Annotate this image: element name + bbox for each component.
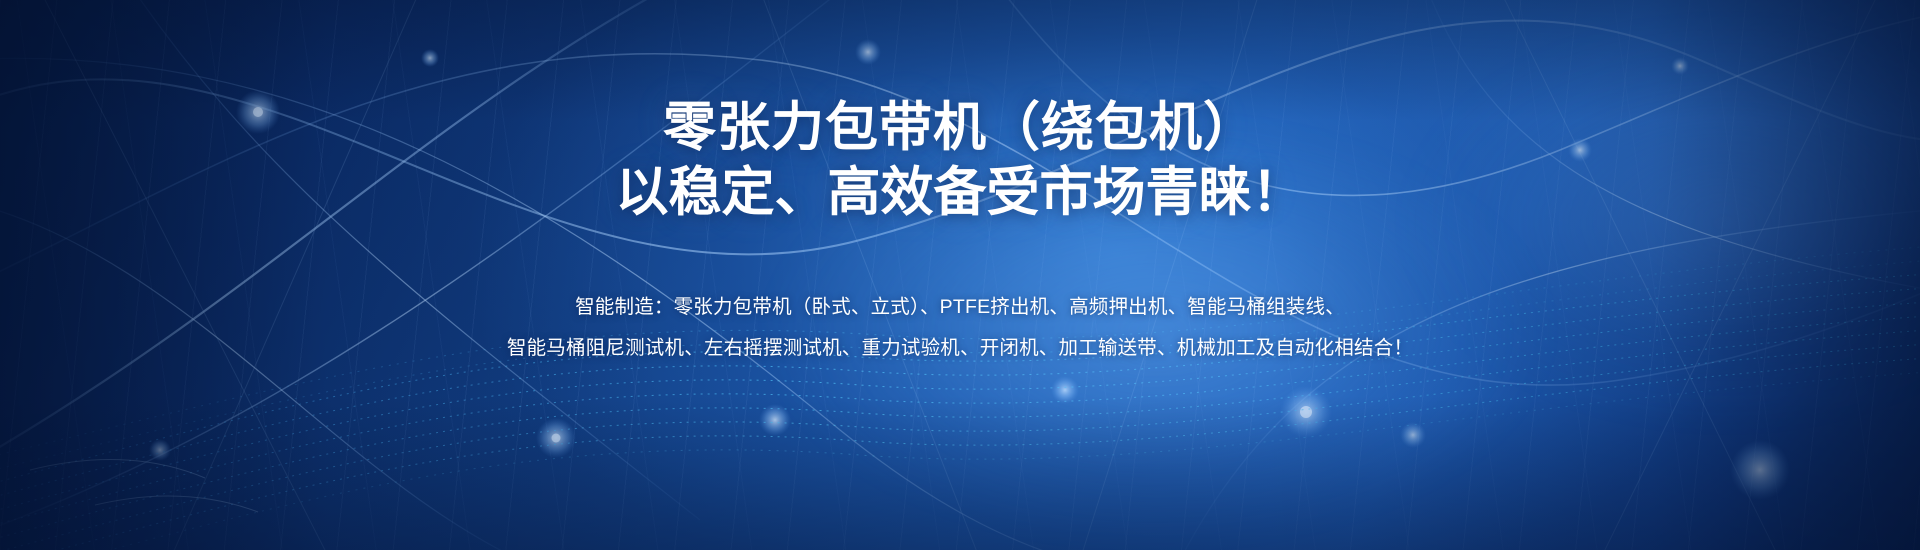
hero-banner: 零张力包带机（绕包机） 以稳定、高效备受市场青睐！ 智能制造：零张力包带机（卧式… — [0, 0, 1920, 550]
subtitle-line-2: 智能马桶阻尼测试机、左右摇摆测试机、重力试验机、开闭机、加工输送带、机械加工及自… — [507, 328, 1413, 369]
headline-line-1: 零张力包带机（绕包机） — [616, 96, 1305, 161]
subtitle-line-1: 智能制造：零张力包带机（卧式、立式）、PTFE挤出机、高频押出机、智能马桶组装线… — [507, 287, 1413, 328]
banner-headline: 零张力包带机（绕包机） 以稳定、高效备受市场青睐！ — [616, 96, 1305, 225]
headline-line-2: 以稳定、高效备受市场青睐！ — [616, 161, 1305, 226]
banner-content: 零张力包带机（绕包机） 以稳定、高效备受市场青睐！ 智能制造：零张力包带机（卧式… — [0, 0, 1920, 550]
banner-subtitle: 智能制造：零张力包带机（卧式、立式）、PTFE挤出机、高频押出机、智能马桶组装线… — [507, 287, 1413, 370]
